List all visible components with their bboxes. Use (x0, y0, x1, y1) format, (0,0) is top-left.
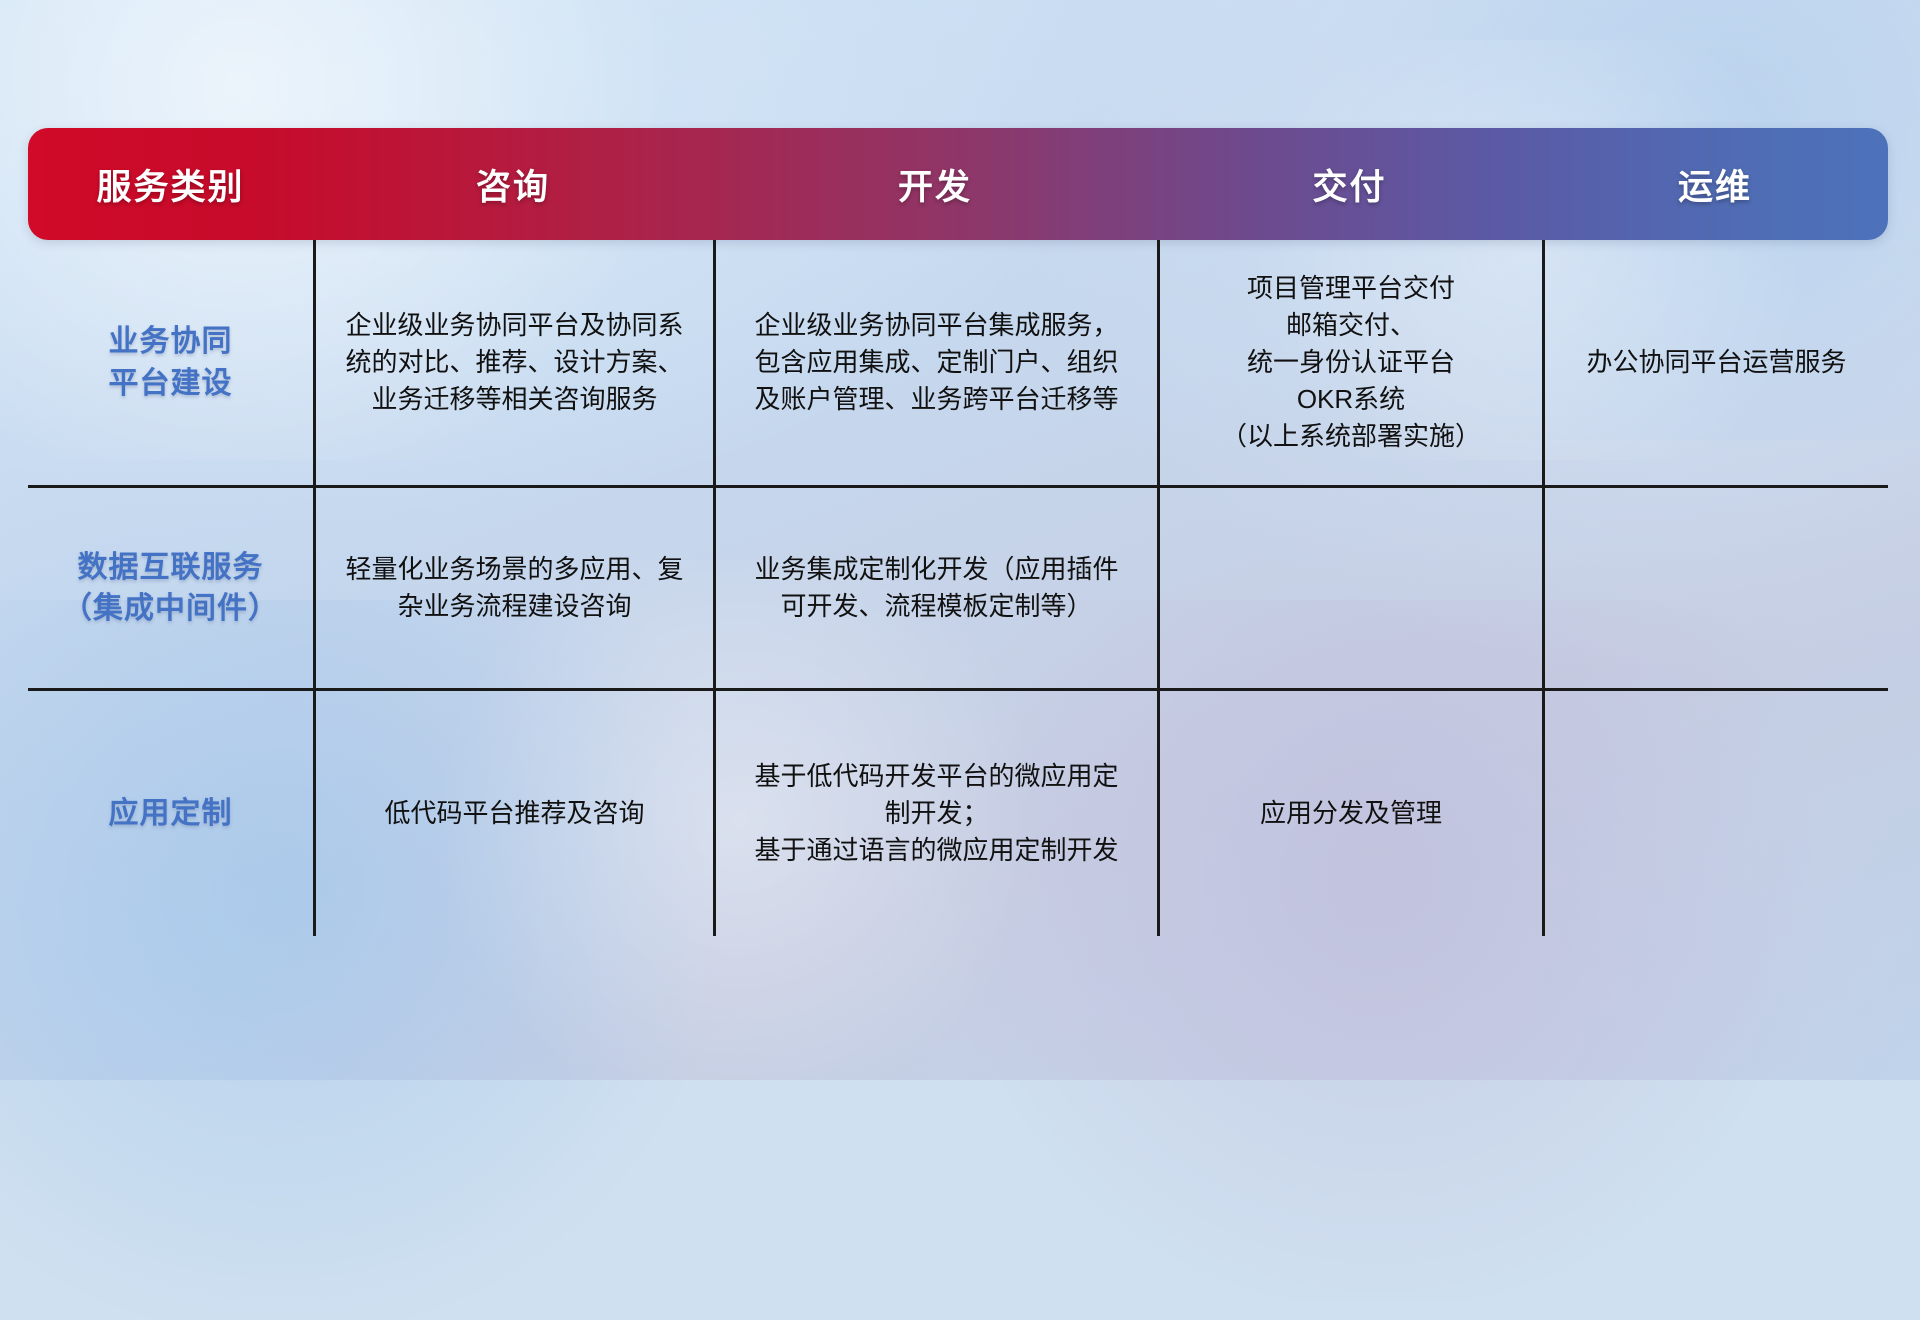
column-header-consulting: 咨询 (313, 159, 713, 210)
cell-operations (1542, 691, 1888, 936)
row-category-label: 业务协同 平台建设 (28, 240, 313, 485)
row-category-label: 数据互联服务 （集成中间件） (28, 488, 313, 688)
table-row: 业务协同 平台建设 企业级业务协同平台及协同系 统的对比、推荐、设计方案、 业务… (28, 240, 1888, 485)
cell-delivery (1157, 488, 1542, 688)
cell-delivery: 项目管理平台交付 邮箱交付、 统一身份认证平台 OKR系统 （以上系统部署实施） (1157, 240, 1542, 485)
cell-operations (1542, 488, 1888, 688)
column-header-delivery: 交付 (1157, 159, 1542, 210)
row-category-label: 应用定制 (28, 691, 313, 936)
column-header-operations: 运维 (1542, 159, 1888, 210)
column-header-development: 开发 (713, 159, 1157, 210)
cell-delivery: 应用分发及管理 (1157, 691, 1542, 936)
table-header-row: 服务类别 咨询 开发 交付 运维 (28, 128, 1888, 240)
table-row: 数据互联服务 （集成中间件） 轻量化业务场景的多应用、复 杂业务流程建设咨询 业… (28, 485, 1888, 688)
cell-consulting: 企业级业务协同平台及协同系 统的对比、推荐、设计方案、 业务迁移等相关咨询服务 (313, 240, 713, 485)
cell-consulting: 轻量化业务场景的多应用、复 杂业务流程建设咨询 (313, 488, 713, 688)
cell-consulting: 低代码平台推荐及咨询 (313, 691, 713, 936)
table-row: 应用定制 低代码平台推荐及咨询 基于低代码开发平台的微应用定 制开发； 基于通过… (28, 688, 1888, 936)
table-body: 业务协同 平台建设 企业级业务协同平台及协同系 统的对比、推荐、设计方案、 业务… (28, 240, 1888, 936)
cell-development: 企业级业务协同平台集成服务， 包含应用集成、定制门户、组织 及账户管理、业务跨平… (713, 240, 1157, 485)
cell-operations: 办公协同平台运营服务 (1542, 240, 1888, 485)
cell-development: 业务集成定制化开发（应用插件 可开发、流程模板定制等） (713, 488, 1157, 688)
column-header-service-category: 服务类别 (28, 159, 313, 210)
cell-development: 基于低代码开发平台的微应用定 制开发； 基于通过语言的微应用定制开发 (713, 691, 1157, 936)
service-matrix-table: 服务类别 咨询 开发 交付 运维 业务协同 平台建设 企业级业务协同平台及协同系… (28, 128, 1888, 936)
